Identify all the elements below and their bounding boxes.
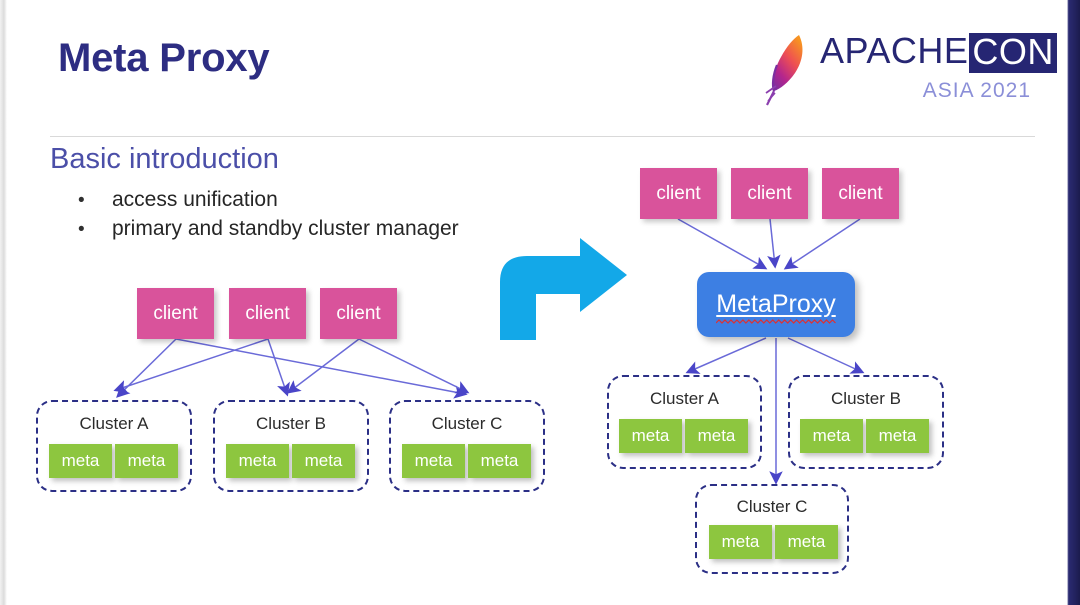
cluster-box[interactable]: Cluster A meta meta — [36, 400, 192, 492]
cluster-box[interactable]: Cluster C meta meta — [389, 400, 545, 492]
client-box[interactable]: client — [822, 168, 899, 219]
cluster-label: Cluster B — [215, 414, 367, 434]
client-box[interactable]: client — [137, 288, 214, 339]
meta-box[interactable]: meta — [292, 444, 355, 478]
client-box[interactable]: client — [229, 288, 306, 339]
client-box[interactable]: client — [320, 288, 397, 339]
meta-box[interactable]: meta — [468, 444, 531, 478]
meta-box[interactable]: meta — [800, 419, 863, 453]
before-connector-lines — [116, 339, 467, 396]
meta-box[interactable]: meta — [402, 444, 465, 478]
cluster-label: Cluster B — [790, 389, 942, 409]
client-box[interactable]: client — [731, 168, 808, 219]
spellcheck-squiggle-icon — [716, 319, 835, 324]
meta-box[interactable]: meta — [775, 525, 838, 559]
cluster-box[interactable]: Cluster A meta meta — [607, 375, 762, 469]
slide-right-edge — [1067, 0, 1080, 605]
metaproxy-label: MetaProxy — [716, 290, 835, 319]
cluster-label: Cluster C — [391, 414, 543, 434]
client-box[interactable]: client — [640, 168, 717, 219]
cluster-label: Cluster A — [38, 414, 190, 434]
meta-box[interactable]: meta — [115, 444, 178, 478]
cluster-box[interactable]: Cluster B meta meta — [788, 375, 944, 469]
meta-box[interactable]: meta — [685, 419, 748, 453]
slide-canvas: Meta Proxy APACHE CON ASIA 2021 B — [0, 0, 1080, 605]
meta-box[interactable]: meta — [49, 444, 112, 478]
metaproxy-box[interactable]: MetaProxy — [697, 272, 855, 337]
metaproxy-text: MetaProxy — [716, 290, 835, 318]
cluster-box[interactable]: Cluster C meta meta — [695, 484, 849, 574]
meta-box[interactable]: meta — [619, 419, 682, 453]
meta-box[interactable]: meta — [709, 525, 772, 559]
cluster-label: Cluster C — [697, 497, 847, 517]
cluster-box[interactable]: Cluster B meta meta — [213, 400, 369, 492]
meta-box[interactable]: meta — [866, 419, 929, 453]
elbow-arrow-icon — [500, 238, 627, 340]
meta-box[interactable]: meta — [226, 444, 289, 478]
cluster-label: Cluster A — [609, 389, 760, 409]
